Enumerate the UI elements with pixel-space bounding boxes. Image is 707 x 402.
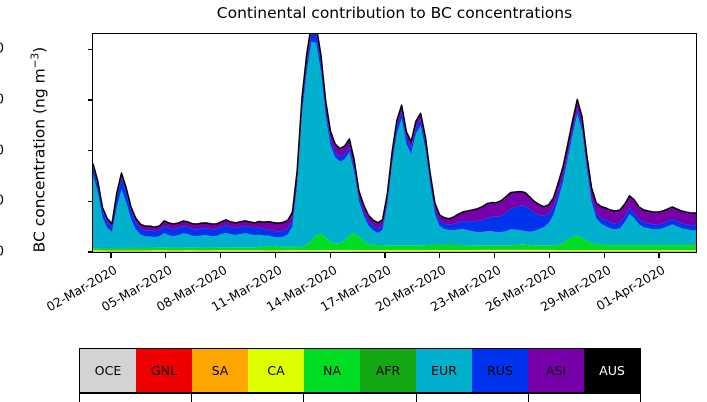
x-tick-mark [658, 253, 659, 258]
x-tick-mark [384, 253, 385, 258]
y-tick-mark [88, 49, 93, 50]
legend-row2-cell [360, 394, 416, 402]
stacked-area-svg [93, 34, 696, 252]
y-tick-label: 150 [0, 92, 4, 107]
legend-row2-cell [303, 394, 360, 402]
legend-cell-oce[interactable]: OCE [80, 349, 136, 392]
x-tick-mark [549, 253, 550, 258]
legend-row2-cell [80, 394, 136, 402]
y-tick-label: 200 [0, 42, 4, 57]
legend-row2-cell [248, 394, 304, 402]
legend-cell-aus[interactable]: AUS [584, 349, 640, 392]
x-tick-mark [220, 253, 221, 258]
legend-row2-cell [584, 394, 640, 402]
legend-row2-cell [472, 394, 528, 402]
x-tick-mark [275, 253, 276, 258]
chart-figure: Continental contribution to BC concentra… [0, 0, 707, 402]
y-tick-mark [88, 150, 93, 151]
y-tick-mark [88, 251, 93, 252]
y-axis-label-main: BC concentration (ng m [31, 68, 49, 252]
y-tick-label: 100 [0, 143, 4, 158]
y-tick-label: 0 [0, 245, 4, 260]
legend-row2-cell [416, 394, 473, 402]
y-axis-label-exponent: −3 [29, 53, 41, 68]
legend-cell-sa[interactable]: SA [192, 349, 248, 392]
legend-table-row-2 [79, 393, 641, 402]
y-tick-label: 50 [0, 194, 4, 209]
legend-cell-gnl[interactable]: GNL [136, 349, 192, 392]
legend-cell-afr[interactable]: AFR [360, 349, 416, 392]
x-tick-mark [604, 253, 605, 258]
legend-row2-cell [136, 394, 192, 402]
x-tick-mark [165, 253, 166, 258]
plot-area [92, 33, 697, 253]
legend-cell-ca[interactable]: CA [248, 349, 304, 392]
legend-row2-cell [191, 394, 248, 402]
x-tick-mark [110, 253, 111, 258]
y-tick-mark [88, 201, 93, 202]
legend-cell-rus[interactable]: RUS [472, 349, 528, 392]
y-axis-label: BC concentration (ng m−3) [29, 25, 48, 275]
x-tick-mark [439, 253, 440, 258]
y-tick-mark [88, 99, 93, 100]
legend-cell-eur[interactable]: EUR [416, 349, 472, 392]
x-tick-mark [330, 253, 331, 258]
legend-table: OCEGNLSACANAAFREURRUSASIAUS [79, 348, 641, 393]
x-tick-mark [494, 253, 495, 258]
legend-cell-na[interactable]: NA [304, 349, 360, 392]
chart-title: Continental contribution to BC concentra… [92, 4, 697, 22]
legend-row2-cell [528, 394, 585, 402]
y-axis-label-tail: ) [31, 47, 49, 53]
legend-cell-asi[interactable]: ASI [528, 349, 584, 392]
